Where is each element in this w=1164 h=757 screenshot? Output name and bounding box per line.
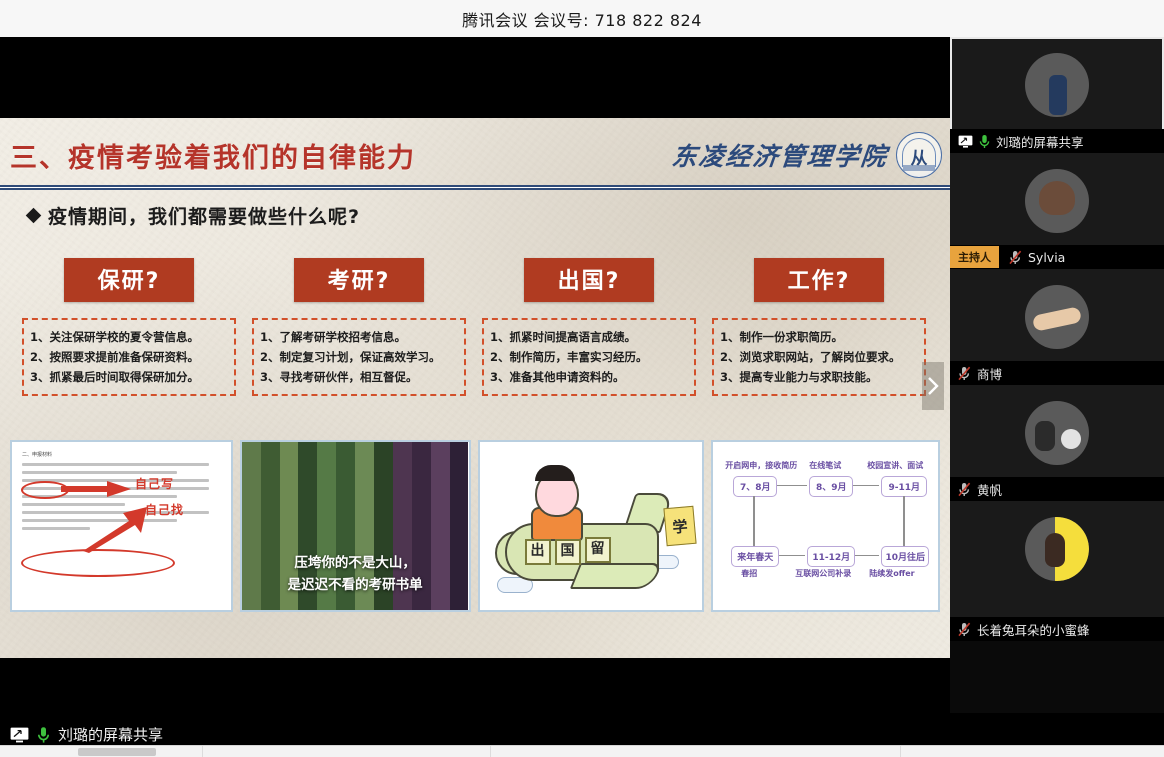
slide-image-row: 二、申报材料 自己写 自己找 <box>10 440 940 612</box>
diamond-bullet-icon <box>26 208 42 224</box>
flow-arrow <box>853 485 879 486</box>
flow-label: 开启网申，接收简历 <box>725 460 797 471</box>
list-item: 1、制作一份求职简历。 <box>720 327 920 347</box>
taskbar-separator <box>900 746 901 757</box>
avatar <box>1025 53 1089 117</box>
option-column-gongzuo: 工作? 1、制作一份求职简历。 2、浏览求职网站，了解岗位要求。 3、提高专业能… <box>704 258 934 396</box>
participant-tile-liulu[interactable]: 刘璐的屏幕共享 <box>950 37 1164 153</box>
participant-tile-bee[interactable]: 长着兔耳朵的小蜜蜂 <box>950 501 1164 641</box>
list-item: 1、了解考研学校招考信息。 <box>260 327 460 347</box>
column-items: 1、制作一份求职简历。 2、浏览求职网站，了解岗位要求。 3、提高专业能力与求职… <box>712 318 926 396</box>
column-heading: 工作? <box>754 258 884 302</box>
flow-node: 9-11月 <box>881 476 927 497</box>
plane-char: 留 <box>585 537 611 563</box>
slide-header: 三、疫情考验着我们的自律能力 东凌经济管理学院 从 <box>0 130 950 192</box>
option-column-kaoyan: 考研? 1、了解考研学校招考信息。 2、制定复习计划，保证高效学习。 3、寻找考… <box>244 258 474 396</box>
annotation-text: 自己写 <box>135 475 174 492</box>
red-arrow-icon <box>61 481 131 497</box>
host-badge: 主持人 <box>950 246 999 268</box>
list-item: 2、浏览求职网站，了解岗位要求。 <box>720 347 920 367</box>
list-item: 2、按照要求提前准备保研资料。 <box>30 347 230 367</box>
list-item: 2、制定复习计划，保证高效学习。 <box>260 347 460 367</box>
screen-share-icon <box>958 135 973 148</box>
plane-flag: 学 <box>663 506 696 546</box>
red-ellipse-annotation <box>21 549 175 577</box>
avatar <box>1025 169 1089 233</box>
kid-hair <box>535 465 575 481</box>
annotation-text: 自己找 <box>145 501 184 518</box>
column-items: 1、抓紧时间提高语言成绩。 2、制作简历，丰富实习经历。 3、准备其他申请资料的… <box>482 318 696 396</box>
slide-title: 三、疫情考验着我们的自律能力 <box>10 136 416 175</box>
list-item: 1、关注保研学校的夏令营信息。 <box>30 327 230 347</box>
flow-label: 春招 <box>741 568 757 579</box>
list-item: 3、抓紧最后时间取得保研加分。 <box>30 367 230 387</box>
slide-subheading: 疫情期间，我们都需要做些什么呢? <box>28 202 360 229</box>
participant-tile-shangbo[interactable]: 商博 <box>950 269 1164 385</box>
flow-node: 11-12月 <box>807 546 855 567</box>
slide-image-document: 二、申报材料 自己写 自己找 <box>10 440 233 612</box>
flow-arrow <box>779 555 805 556</box>
taskbar-separator <box>490 746 491 757</box>
column-heading: 保研? <box>64 258 194 302</box>
org-logo: 东凌经济管理学院 从 <box>672 132 942 178</box>
column-heading: 考研? <box>294 258 424 302</box>
caption-line: 压垮你的不是大山， <box>242 552 469 574</box>
flow-label: 互联网公司补录 <box>795 568 851 579</box>
participants-panel[interactable]: 刘璐的屏幕共享 主持人 Sylvia <box>950 37 1164 713</box>
slide-subheading-text: 疫情期间，我们都需要做些什么呢? <box>48 202 360 229</box>
document-heading: 二、申报材料 <box>22 451 221 458</box>
participant-name: Sylvia <box>1028 250 1065 265</box>
taskbar-separator <box>202 746 203 757</box>
option-column-chuguo: 出国? 1、抓紧时间提高语言成绩。 2、制作简历，丰富实习经历。 3、准备其他申… <box>474 258 704 396</box>
chevron-right-icon <box>927 376 939 396</box>
taskbar-item[interactable] <box>78 748 156 756</box>
share-owner-label: 刘璐的屏幕共享 <box>58 724 163 745</box>
flow-node: 10月往后 <box>881 546 929 567</box>
org-logo-text: 东凌经济管理学院 <box>670 137 890 173</box>
participant-name: 刘璐的屏幕共享 <box>996 132 1084 151</box>
cartoon-plane: 出 国 留 学 <box>483 445 700 607</box>
mic-on-icon <box>979 134 990 149</box>
flow-arrow <box>753 496 754 546</box>
meeting-title: 腾讯会议 会议号: 718 822 824 <box>462 7 702 31</box>
mic-on-icon <box>37 726 50 744</box>
mic-muted-icon <box>958 622 971 637</box>
slide-image-books: 压垮你的不是大山， 是迟迟不看的考研书单 <box>240 440 471 612</box>
column-items: 1、了解考研学校招考信息。 2、制定复习计划，保证高效学习。 3、寻找考研伙伴，… <box>252 318 466 396</box>
participant-nameline: 商博 <box>950 361 1164 385</box>
plane-wing <box>569 563 662 589</box>
avatar <box>1025 285 1089 349</box>
plane-char: 国 <box>555 539 581 565</box>
participant-nameline: 主持人 Sylvia <box>950 245 1164 269</box>
document-scan: 二、申报材料 自己写 自己找 <box>15 445 228 607</box>
participant-nameline: 刘璐的屏幕共享 <box>950 129 1164 153</box>
flow-node: 7、8月 <box>733 476 777 497</box>
screen-share-icon <box>10 727 29 743</box>
meeting-title-bar: 腾讯会议 会议号: 718 822 824 <box>0 0 1164 38</box>
participant-nameline: 黄帆 <box>950 477 1164 501</box>
list-item: 2、制作简历，丰富实习经历。 <box>490 347 690 367</box>
slide-image-study-abroad: 出 国 留 学 <box>478 440 705 612</box>
list-item: 3、提高专业能力与求职技能。 <box>720 367 920 387</box>
flow-label: 在线笔试 <box>809 460 841 471</box>
flow-label: 校园宣讲、面试 <box>867 460 923 471</box>
presentation-slide: 三、疫情考验着我们的自律能力 东凌经济管理学院 从 疫情期间，我们都需要做些什么… <box>0 118 950 658</box>
avatar <box>1025 517 1089 581</box>
caption-line: 是迟迟不看的考研书单 <box>242 574 469 596</box>
header-rule <box>0 185 950 190</box>
slide-image-recruitment-flow: 开启网申，接收简历 在线笔试 校园宣讲、面试 7、8月 8、9月 9-11月 <box>711 440 940 612</box>
participant-name: 商博 <box>977 364 1002 383</box>
participant-tile-huangfan[interactable]: 黄帆 <box>950 385 1164 501</box>
os-taskbar[interactable] <box>0 745 1164 757</box>
flow-arrow <box>777 485 807 486</box>
university-emblem-icon: 从 <box>896 132 942 178</box>
option-column-baoyan: 保研? 1、关注保研学校的夏令营信息。 2、按照要求提前准备保研资料。 3、抓紧… <box>14 258 244 396</box>
list-item: 1、抓紧时间提高语言成绩。 <box>490 327 690 347</box>
column-heading: 出国? <box>524 258 654 302</box>
column-items: 1、关注保研学校的夏令营信息。 2、按照要求提前准备保研资料。 3、抓紧最后时间… <box>22 318 236 396</box>
mic-muted-icon <box>1009 250 1022 265</box>
flow-label: 陆续发offer <box>869 568 914 579</box>
flow-node: 来年春天 <box>731 546 779 567</box>
participant-name: 黄帆 <box>977 480 1002 499</box>
emblem-base <box>903 165 935 171</box>
meeting-window: 腾讯会议 会议号: 718 822 824 三、疫情考验着我们的自律能力 东凌经… <box>0 0 1164 756</box>
shared-screen-stage[interactable]: 三、疫情考验着我们的自律能力 东凌经济管理学院 从 疫情期间，我们都需要做些什么… <box>0 37 950 713</box>
mic-muted-icon <box>958 366 971 381</box>
mic-muted-icon <box>958 482 971 497</box>
recruitment-timeline: 开启网申，接收简历 在线笔试 校园宣讲、面试 7、8月 8、9月 9-11月 <box>717 446 934 606</box>
book-caption: 压垮你的不是大山， 是迟迟不看的考研书单 <box>242 552 469 596</box>
list-item: 3、寻找考研伙伴，相互督促。 <box>260 367 460 387</box>
next-slide-button[interactable] <box>922 362 944 410</box>
flow-node: 8、9月 <box>809 476 853 497</box>
participant-tile-sylvia[interactable]: 主持人 Sylvia <box>950 153 1164 269</box>
participant-nameline: 长着兔耳朵的小蜜蜂 <box>950 617 1164 641</box>
option-columns: 保研? 1、关注保研学校的夏令营信息。 2、按照要求提前准备保研资料。 3、抓紧… <box>14 258 936 396</box>
participant-name: 长着兔耳朵的小蜜蜂 <box>977 620 1090 639</box>
flow-arrow <box>903 496 904 546</box>
list-item: 3、准备其他申请资料的。 <box>490 367 690 387</box>
avatar <box>1025 401 1089 465</box>
plane-char: 出 <box>525 539 551 565</box>
red-arrow-icon <box>77 507 153 553</box>
flow-arrow <box>855 555 879 556</box>
